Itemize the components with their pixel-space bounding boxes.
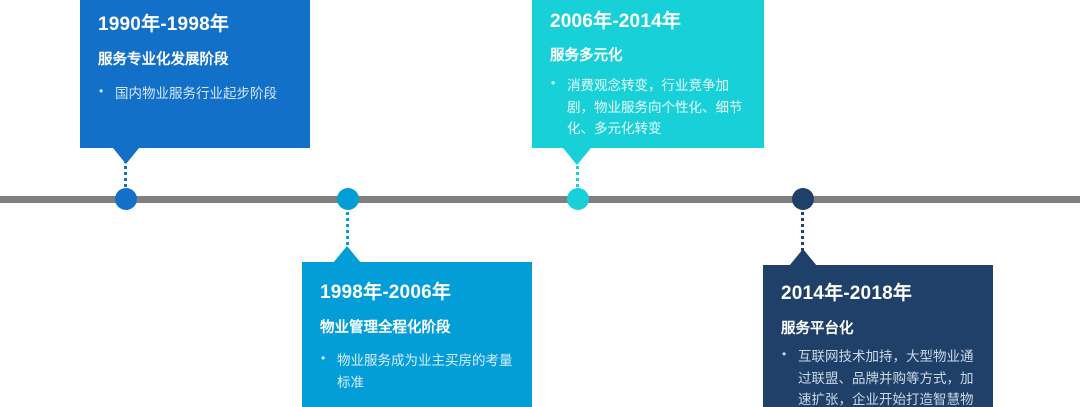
milestone-pointer-2 bbox=[333, 246, 361, 263]
milestone-dot-3[interactable] bbox=[567, 188, 589, 210]
milestone-card-1[interactable]: 1990年-1998年 服务专业化发展阶段 国内物业服务行业起步阶段 bbox=[80, 0, 310, 148]
list-item: 互联网技术加持，大型物业通过联盟、品牌并购等方式，加速扩张，企业开始打造智慧物业… bbox=[781, 346, 975, 407]
list-item: 国内物业服务行业起步阶段 bbox=[98, 83, 292, 105]
milestone-bullets-1: 国内物业服务行业起步阶段 bbox=[98, 83, 292, 105]
milestone-bullets-4: 互联网技术加持，大型物业通过联盟、品牌并购等方式，加速扩张，企业开始打造智慧物业… bbox=[781, 346, 975, 407]
milestone-card-4[interactable]: 2014年-2018年 服务平台化 互联网技术加持，大型物业通过联盟、品牌并购等… bbox=[763, 265, 993, 407]
milestone-subtitle-4: 服务平台化 bbox=[781, 320, 975, 339]
milestone-bullets-2: 物业服务成为业主买房的考量标准 bbox=[320, 350, 514, 394]
milestone-card-2[interactable]: 1998年-2006年 物业管理全程化阶段 物业服务成为业主买房的考量标准 bbox=[302, 262, 532, 407]
milestone-dot-2[interactable] bbox=[337, 188, 359, 210]
milestone-dot-1[interactable] bbox=[115, 188, 137, 210]
milestone-dot-4[interactable] bbox=[792, 188, 814, 210]
list-item: 消费观念转变，行业竞争加剧，物业服务向个性化、细节化、多元化转变 bbox=[550, 75, 746, 141]
milestone-year-1: 1990年-1998年 bbox=[98, 14, 292, 37]
timeline-diagram: 1990年-1998年 服务专业化发展阶段 国内物业服务行业起步阶段 1998年… bbox=[0, 0, 1080, 407]
milestone-subtitle-1: 服务专业化发展阶段 bbox=[98, 51, 292, 70]
milestone-subtitle-3: 服务多元化 bbox=[550, 47, 746, 66]
milestone-card-3[interactable]: 2006年-2014年 服务多元化 消费观念转变，行业竞争加剧，物业服务向个性化… bbox=[532, 0, 764, 148]
milestone-subtitle-2: 物业管理全程化阶段 bbox=[320, 319, 514, 338]
milestone-bullets-3: 消费观念转变，行业竞争加剧，物业服务向个性化、细节化、多元化转变 bbox=[550, 75, 746, 141]
timeline-axis bbox=[0, 196, 1080, 203]
list-item: 物业服务成为业主买房的考量标准 bbox=[320, 350, 514, 394]
milestone-year-3: 2006年-2014年 bbox=[550, 11, 746, 34]
milestone-year-2: 1998年-2006年 bbox=[320, 282, 514, 305]
milestone-year-4: 2014年-2018年 bbox=[781, 283, 975, 306]
